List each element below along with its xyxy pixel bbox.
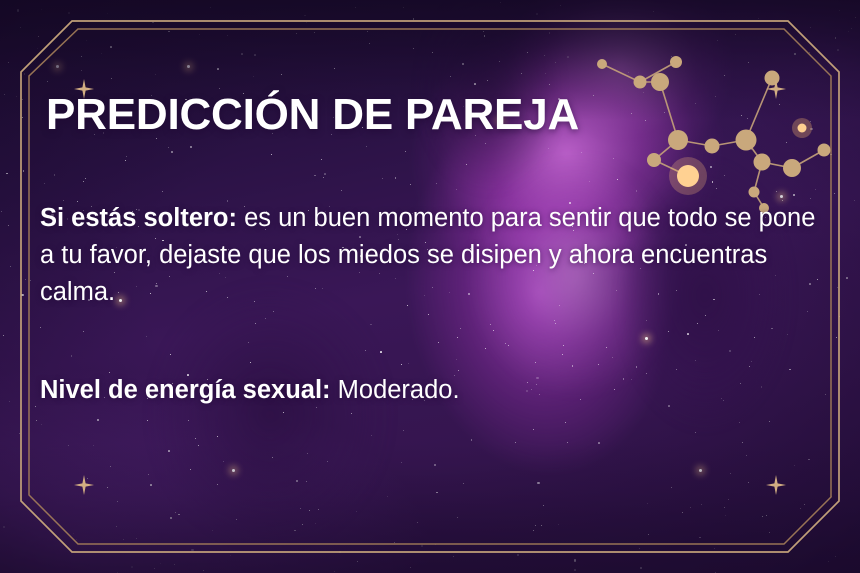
paragraph-text-energy-level: Moderado. [331,376,460,404]
horoscope-prediction-card: PREDICCIÓN DE PAREJA Si estás soltero: e… [0,0,860,573]
paragraph-label-energy-level: Nivel de energía sexual: [40,376,331,404]
page-title: PREDICCIÓN DE PAREJA [46,88,579,142]
prediction-body: Si estás soltero: es un buen momento par… [40,200,830,409]
paragraph-energy-level: Nivel de energía sexual: Moderado. [40,372,830,409]
paragraph-single-status: Si estás soltero: es un buen momento par… [40,200,830,311]
card-content: PREDICCIÓN DE PAREJA Si estás soltero: e… [0,0,860,573]
paragraph-label-single-status: Si estás soltero: [40,204,237,232]
